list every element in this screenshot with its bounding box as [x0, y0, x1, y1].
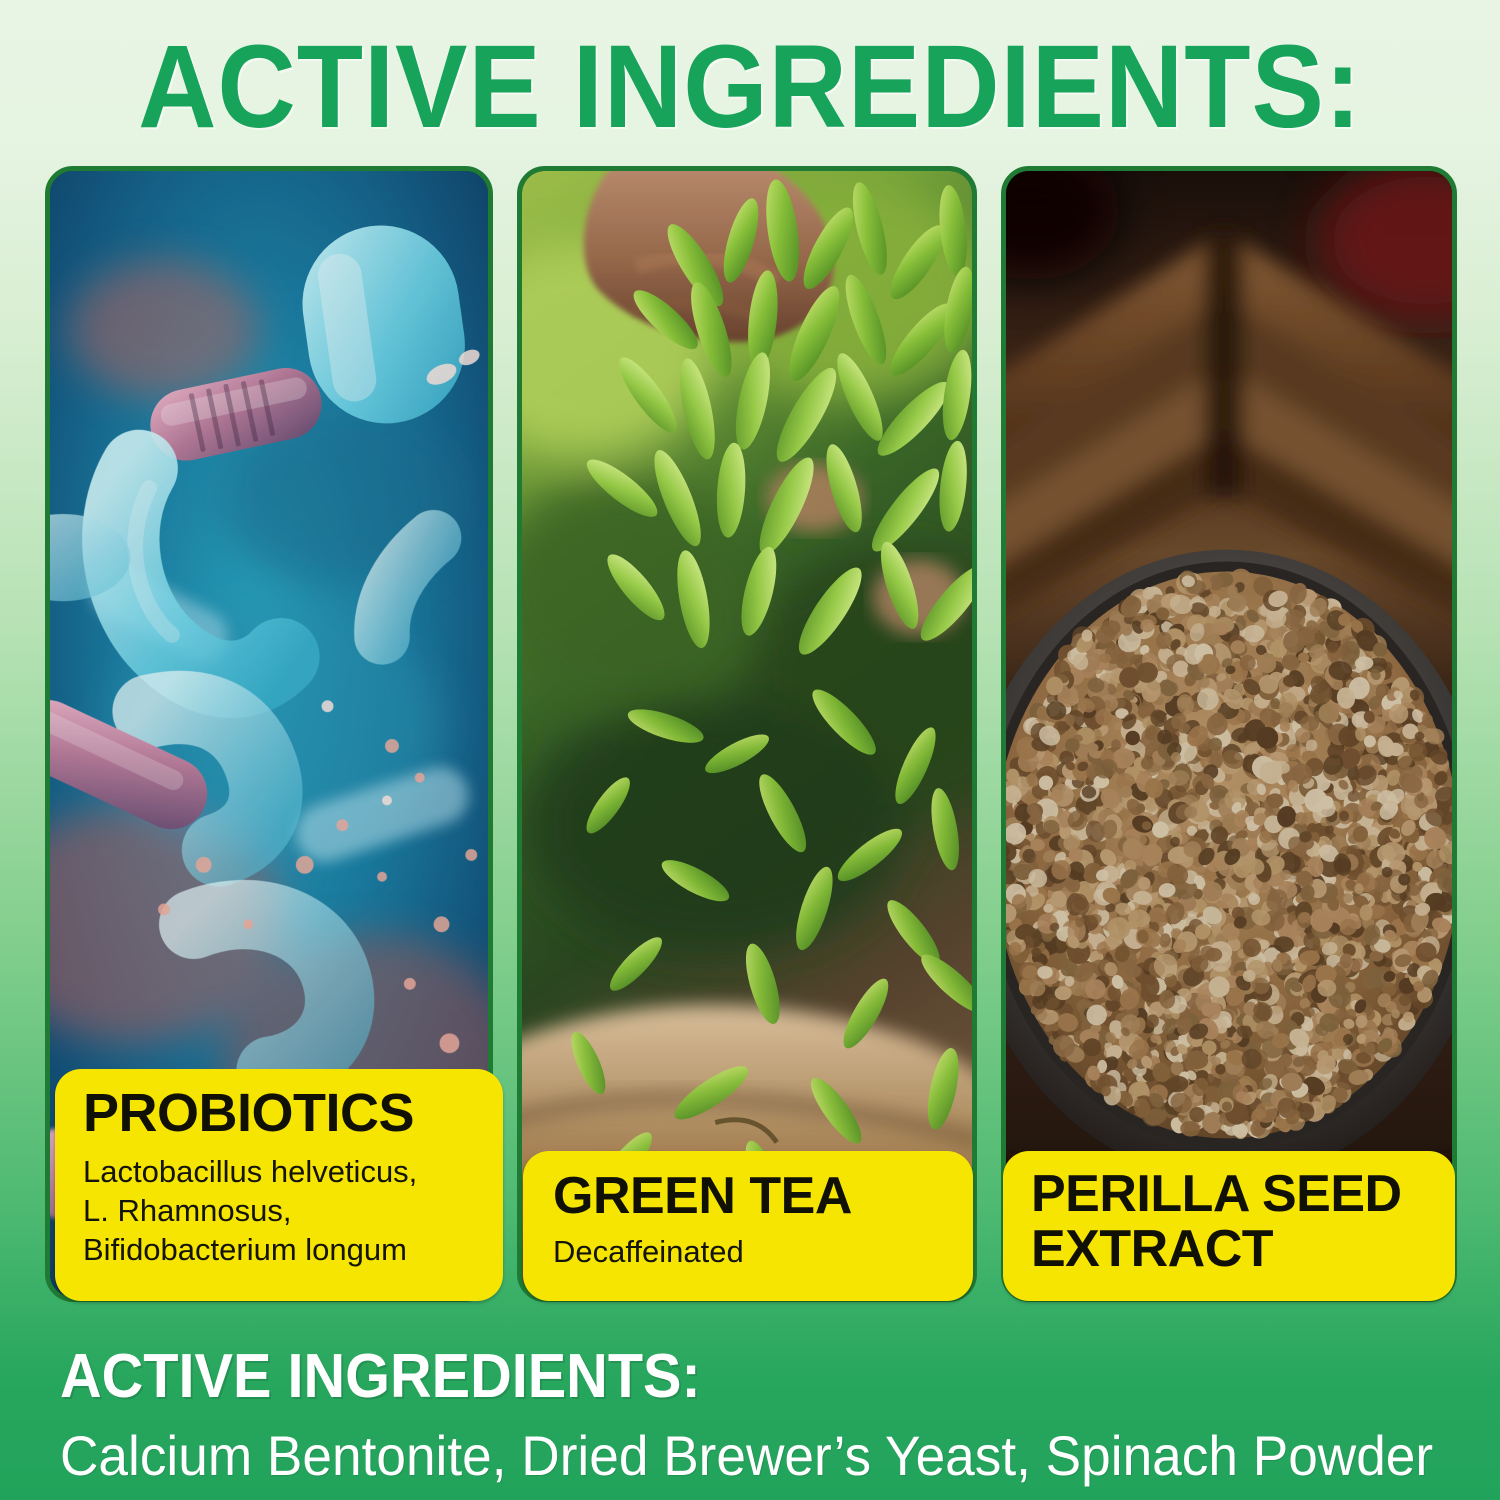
green-tea-image [522, 171, 972, 1297]
chip-subtitle-probiotics: Lactobacillus helveticus,L. Rhamnosus,Bi… [83, 1152, 489, 1269]
chip-title-green-tea: GREEN TEA [553, 1169, 959, 1224]
chip-title-probiotics: PROBIOTICS [83, 1085, 489, 1142]
footer-bar: ACTIVE INGREDIENTS: Calcium Bentonite, D… [0, 1316, 1500, 1500]
footer-ingredient-list: Calcium Bentonite, Dried Brewer’s Yeast,… [60, 1428, 1433, 1484]
ingredient-panel-green-tea [517, 166, 977, 1302]
chip-subtitle-green-tea: Decaffeinated [553, 1232, 959, 1271]
caption-chip-green-tea: GREEN TEA Decaffeinated [523, 1151, 973, 1301]
caption-chip-probiotics: PROBIOTICS Lactobacillus helveticus,L. R… [55, 1069, 503, 1301]
page-title: ACTIVE INGREDIENTS: [60, 28, 1440, 146]
ingredients-poster: ACTIVE INGREDIENTS: [0, 0, 1500, 1500]
chip-title-perilla-seed: PERILLA SEEDEXTRACT [1031, 1167, 1441, 1277]
footer-title: ACTIVE INGREDIENTS: [60, 1346, 701, 1408]
ingredient-panel-perilla-seed [1001, 166, 1457, 1302]
caption-chip-perilla-seed: PERILLA SEEDEXTRACT [1003, 1151, 1455, 1301]
perilla-seed-image [1006, 171, 1452, 1297]
